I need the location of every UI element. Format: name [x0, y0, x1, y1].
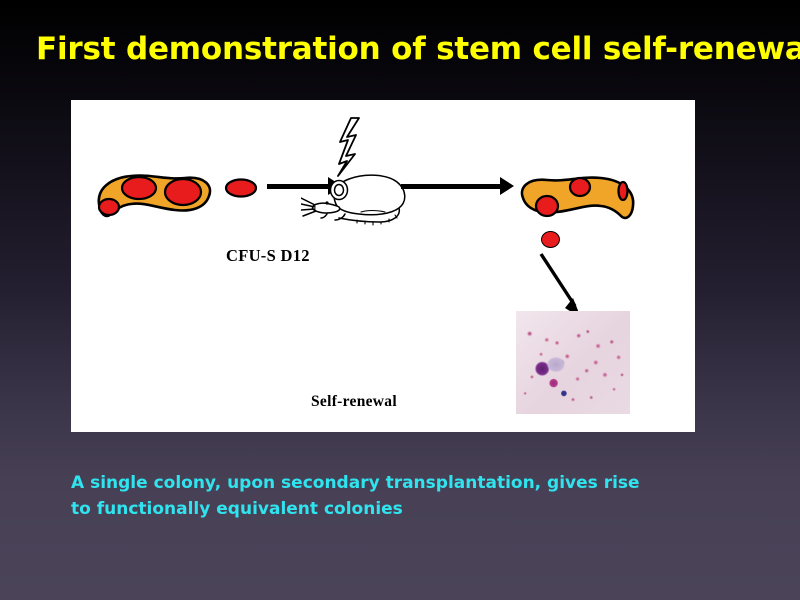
irradiated-recipient-mouse: [301, 162, 417, 228]
spleen-colony: [99, 199, 119, 215]
spleen-colony: [122, 177, 156, 199]
spleen-colony: [536, 196, 558, 216]
spleen-colony: [570, 178, 590, 196]
spleen-colony: [619, 182, 628, 200]
slide-canvas: First demonstration of stem cell self-re…: [0, 0, 800, 600]
recipient-spleen-with-colonies: [515, 158, 645, 228]
outcome-arrow: [401, 184, 501, 189]
page-title: First demonstration of stem cell self-re…: [36, 30, 776, 68]
donor-spleen-with-colonies: [87, 152, 217, 228]
spleen-colony: [165, 179, 201, 205]
slide-caption: A single colony, upon secondary transpla…: [71, 470, 751, 522]
giemsa-stained-colony-micrograph: [516, 311, 630, 414]
caption-line-1: A single colony, upon secondary transpla…: [71, 470, 751, 496]
single-cfus-colony: [223, 176, 259, 200]
label-cfus-d12: CFU-S D12: [226, 246, 310, 266]
label-self-renewal: Self-renewal: [311, 393, 397, 411]
secondary-colony: [541, 231, 560, 248]
figure-panel: CFU-S D12 Self-renewal: [71, 100, 695, 432]
caption-line-2: to functionally equivalent colonies: [71, 496, 751, 522]
